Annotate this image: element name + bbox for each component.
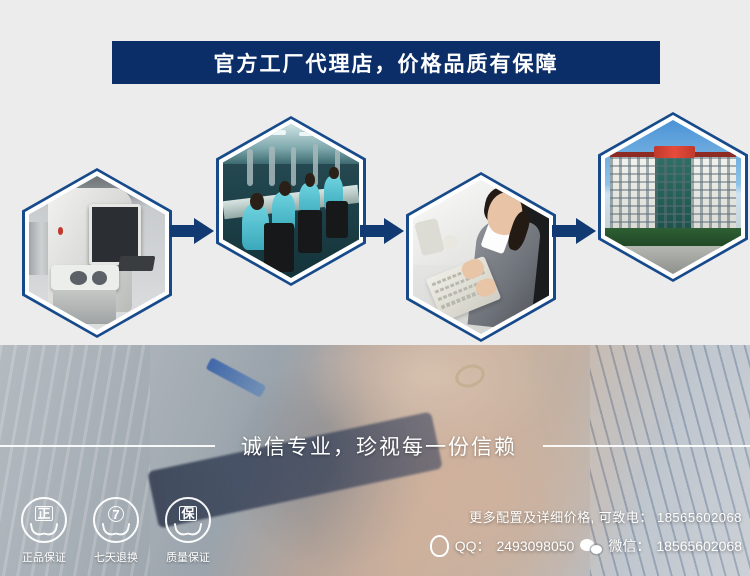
badge-label: 质量保证 (166, 549, 210, 565)
badge-label: 七天退换 (94, 549, 138, 565)
badge-glyph: 正 (35, 506, 52, 521)
tagline-text: 诚信专业，珍视每一份信赖 (215, 431, 543, 461)
contact-phone-line: 更多配置及详细价格, 可致电： 18565602068 (430, 507, 742, 526)
promo-page: 官方工厂代理店，价格品质有保障 (0, 0, 750, 576)
headline-banner: 官方工厂代理店，价格品质有保障 (112, 41, 660, 84)
badge-glyph: 7 (108, 506, 124, 522)
badge-authentic: 正 正品保证 (8, 497, 80, 569)
badge-glyph: 保 (179, 506, 196, 521)
tagline-row: 诚信专业，珍视每一份信赖 (0, 429, 750, 463)
badge-quality: 保 质量保证 (152, 497, 224, 569)
wechat-icon (580, 539, 602, 554)
process-row (0, 100, 750, 330)
tagline-rule-left (0, 445, 215, 447)
hands-shape (175, 523, 201, 536)
tagline-rule-right (543, 445, 750, 447)
trust-section: 诚信专业，珍视每一份信赖 正 正品保证 7 七天退换 保 (0, 345, 750, 576)
badge-label: 正品保证 (22, 549, 66, 565)
hands-shape (31, 523, 57, 536)
headline-text: 官方工厂代理店，价格品质有保障 (214, 48, 559, 78)
hands-sevenday-icon: 7 (93, 497, 139, 543)
badge-seven-day-return: 7 七天退换 (80, 497, 152, 569)
contact-im-line: QQ： 2493098050 微信： 18565602068 (430, 535, 742, 557)
process-step-factory-line (216, 116, 366, 286)
process-arrow-2-icon (360, 218, 404, 244)
wechat-label: 微信： (608, 536, 650, 556)
contact-block: 更多配置及详细价格, 可致电： 18565602068 QQ： 24930980… (430, 507, 742, 557)
qq-icon (430, 535, 449, 557)
process-step-company-building (598, 112, 748, 282)
qq-number: 2493098050 (496, 538, 574, 554)
qq-label: QQ： (455, 536, 491, 556)
hands-quality-icon: 保 (165, 497, 211, 543)
process-step-medical-equipment (22, 168, 172, 338)
process-arrow-3-icon (552, 218, 596, 244)
wechat-number: 18565602068 (656, 538, 742, 554)
hands-authentic-icon: 正 (21, 497, 67, 543)
process-arrow-1-icon (170, 218, 214, 244)
guarantee-badges: 正 正品保证 7 七天退换 保 质量保证 (8, 497, 228, 569)
hands-shape (103, 523, 129, 536)
process-step-office-service (406, 172, 556, 342)
